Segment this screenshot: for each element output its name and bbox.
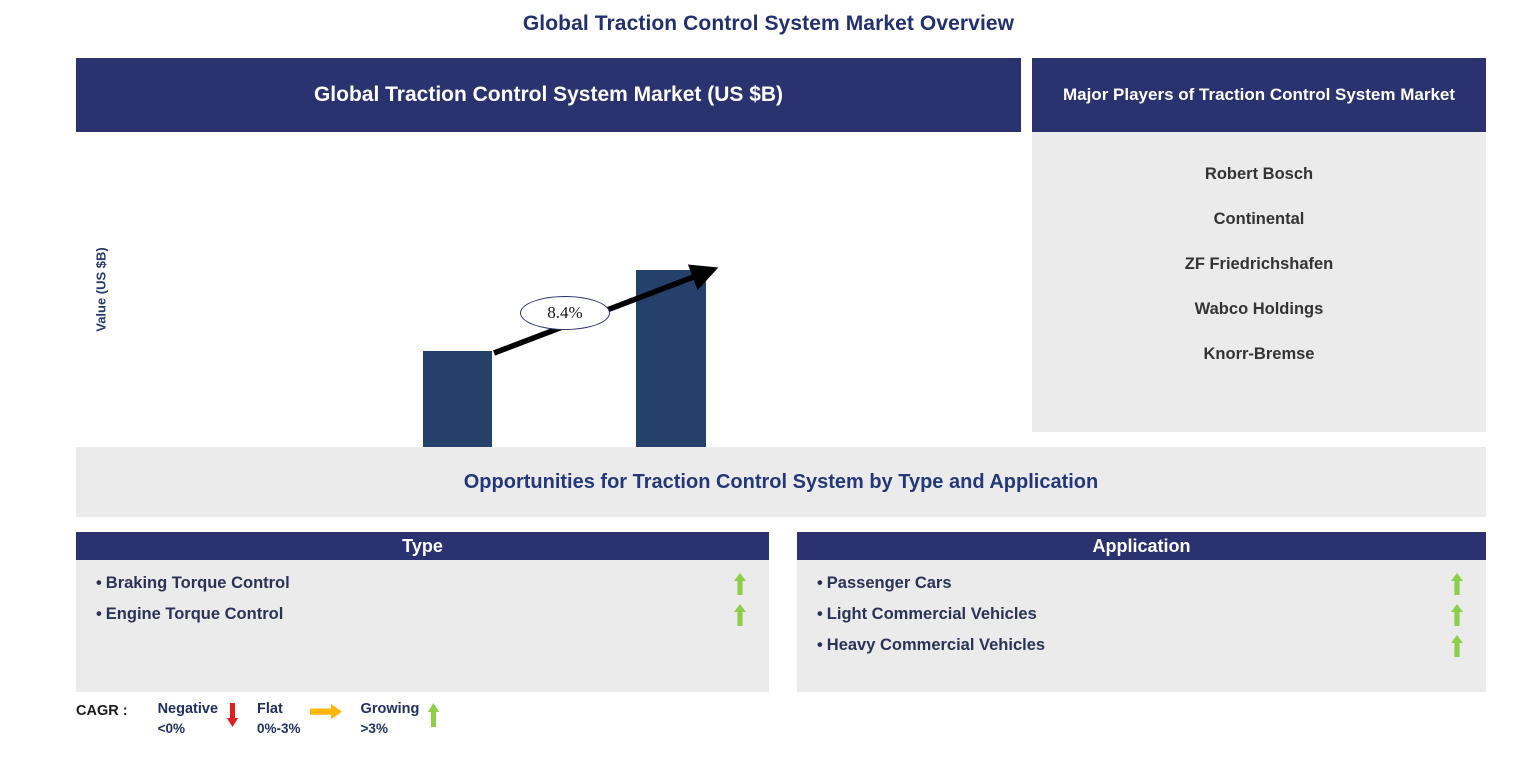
- bullet-icon: •: [817, 574, 823, 592]
- bullet-icon: •: [817, 636, 823, 654]
- application-panel-header: Application: [797, 532, 1486, 560]
- legend-range: <0%: [158, 720, 218, 738]
- list-item: Knorr-Bremse: [1032, 332, 1486, 377]
- list-item: ZF Friedrichshafen: [1032, 242, 1486, 287]
- arrow-down-red-icon: [226, 702, 239, 728]
- chart-card-title: Global Traction Control System Market (U…: [314, 82, 783, 108]
- type-panel-title: Type: [402, 536, 443, 557]
- list-item: •Light Commercial Vehicles: [797, 599, 1486, 630]
- list-item: •Passenger Cars: [797, 568, 1486, 599]
- cagr-legend: CAGR : Negative <0% Flat 0%-3% Growing >…: [76, 700, 458, 738]
- application-item-label: •Heavy Commercial Vehicles: [817, 636, 1045, 655]
- arrow-up-green-icon: [733, 603, 747, 627]
- application-panel-list: •Passenger Cars •Light Commercial Vehicl…: [797, 560, 1486, 661]
- arrow-up-green-icon: [733, 572, 747, 596]
- legend-entry-text: Negative <0%: [158, 700, 218, 738]
- legend-name: Growing: [361, 700, 420, 720]
- cagr-legend-title: CAGR :: [76, 700, 128, 719]
- list-item: •Braking Torque Control: [76, 568, 769, 599]
- application-item-text: Passenger Cars: [827, 574, 952, 592]
- legend-range: >3%: [361, 720, 420, 738]
- list-item: Continental: [1032, 197, 1486, 242]
- arrow-up-green-icon: [1450, 634, 1464, 658]
- page-title: Global Traction Control System Market Ov…: [0, 12, 1537, 36]
- application-item-text: Heavy Commercial Vehicles: [827, 636, 1045, 654]
- type-panel-header: Type: [76, 532, 769, 560]
- bullet-icon: •: [96, 605, 102, 623]
- legend-entry-flat: Flat 0%-3%: [257, 700, 349, 738]
- legend-entry-text: Growing >3%: [361, 700, 420, 738]
- opportunities-title: Opportunities for Traction Control Syste…: [464, 471, 1099, 494]
- bullet-icon: •: [817, 605, 823, 623]
- list-item: •Heavy Commercial Vehicles: [797, 630, 1486, 661]
- chart-card-header: Global Traction Control System Market (U…: [76, 58, 1021, 132]
- type-item-text: Engine Torque Control: [106, 605, 284, 623]
- type-item-label: •Braking Torque Control: [96, 574, 290, 593]
- application-item-label: •Passenger Cars: [817, 574, 952, 593]
- application-panel: Application •Passenger Cars •Light Comme…: [797, 532, 1486, 692]
- cagr-value: 8.4%: [547, 303, 582, 323]
- arrow-up-green-icon: [427, 702, 440, 728]
- arrow-up-green-icon: [1450, 572, 1464, 596]
- legend-entry-negative: Negative <0%: [158, 700, 245, 738]
- bar-2031: [636, 270, 706, 475]
- bar-chart: Value (US $B) 2025 2031 8.4% Source : Lu…: [76, 132, 1021, 432]
- major-players-header: Major Players of Traction Control System…: [1032, 58, 1486, 132]
- legend-name: Flat: [257, 700, 301, 720]
- opportunities-band: Opportunities for Traction Control Syste…: [76, 447, 1486, 517]
- arrow-right-yellow-icon: [309, 702, 343, 724]
- bullet-icon: •: [96, 574, 102, 592]
- type-item-text: Braking Torque Control: [106, 574, 290, 592]
- major-players-title: Major Players of Traction Control System…: [1063, 84, 1455, 106]
- major-players-card: Major Players of Traction Control System…: [1032, 58, 1486, 432]
- list-item: Wabco Holdings: [1032, 287, 1486, 332]
- type-panel: Type •Braking Torque Control •Engine Tor…: [76, 532, 769, 692]
- list-item: Robert Bosch: [1032, 152, 1486, 197]
- market-chart-card: Global Traction Control System Market (U…: [76, 58, 1021, 432]
- major-players-list: Robert Bosch Continental ZF Friedrichsha…: [1032, 132, 1486, 377]
- type-item-label: •Engine Torque Control: [96, 605, 283, 624]
- arrow-up-green-icon: [1450, 603, 1464, 627]
- application-item-text: Light Commercial Vehicles: [827, 605, 1037, 623]
- application-item-label: •Light Commercial Vehicles: [817, 605, 1037, 624]
- list-item: •Engine Torque Control: [76, 599, 769, 630]
- application-panel-title: Application: [1093, 536, 1191, 557]
- legend-range: 0%-3%: [257, 720, 301, 738]
- legend-entry-text: Flat 0%-3%: [257, 700, 301, 738]
- cagr-bubble: 8.4%: [520, 296, 610, 330]
- y-axis-label: Value (US $B): [94, 230, 109, 350]
- type-panel-list: •Braking Torque Control •Engine Torque C…: [76, 560, 769, 630]
- legend-name: Negative: [158, 700, 218, 720]
- legend-entry-growing: Growing >3%: [361, 700, 447, 738]
